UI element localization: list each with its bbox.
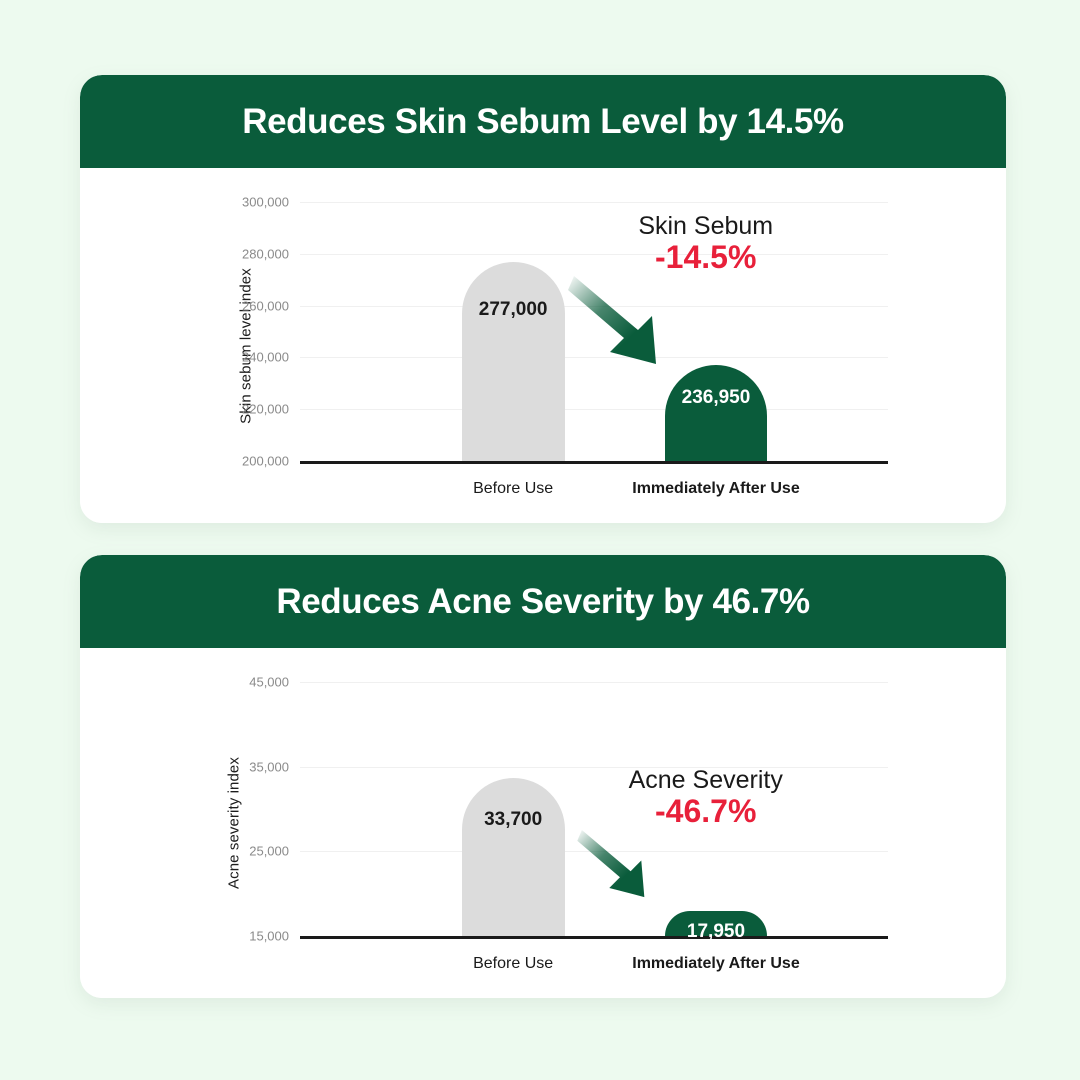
y-tick-label: 25,000 [249, 844, 289, 859]
callout-metric-label: Acne Severity [576, 766, 835, 794]
y-tick-label: 45,000 [249, 675, 289, 690]
down-right-arrow-icon [568, 827, 678, 907]
y-tick-label: 240,000 [242, 350, 289, 365]
chart-card-sebum: Reduces Skin Sebum Level by 14.5% Skin s… [80, 75, 1006, 523]
bar-value-label: 236,950 [682, 387, 751, 409]
y-tick-label: 35,000 [249, 759, 289, 774]
y-tick-label: 260,000 [242, 298, 289, 313]
bar-chart-acne: Acne severity index 45,000 35,000 25,000… [80, 648, 1006, 998]
y-axis-title: Skin sebum level index [237, 268, 254, 424]
gridline: 220,000 [300, 409, 888, 410]
callout-delta-value: -46.7% [576, 794, 835, 830]
axis-baseline: 200,000 [300, 461, 888, 464]
y-tick-label: 15,000 [249, 929, 289, 944]
plot-area-acne: 45,000 35,000 25,000 15,000 33,700 Befor [300, 682, 888, 936]
down-right-arrow-icon [568, 272, 688, 377]
x-axis-label-after: Immediately After Use [632, 955, 799, 973]
reduction-callout: Skin Sebum -14.5% [576, 212, 835, 276]
callout-delta-value: -14.5% [576, 240, 835, 276]
bar-chart-sebum: Skin sebum level index 300,000 280,000 2… [80, 168, 1006, 523]
bar-value-label: 17,950 [687, 921, 745, 943]
y-axis-title: Acne severity index [225, 757, 242, 889]
y-tick-label: 300,000 [242, 195, 289, 210]
card-header-sebum: Reduces Skin Sebum Level by 14.5% [80, 75, 1006, 168]
gridline: 300,000 [300, 202, 888, 203]
x-axis-label-after: Immediately After Use [632, 480, 799, 498]
infographic-page: Reduces Skin Sebum Level by 14.5% Skin s… [0, 0, 1080, 1080]
gridline: 260,000 [300, 306, 888, 307]
bar-before-use[interactable]: 33,700 Before Use [462, 778, 565, 936]
gridline: 240,000 [300, 357, 888, 358]
plot-area-sebum: 300,000 280,000 260,000 240,000 220,000 [300, 202, 888, 461]
reduction-callout: Acne Severity -46.7% [576, 766, 835, 830]
y-tick-label: 280,000 [242, 246, 289, 261]
bar-value-label: 33,700 [484, 809, 542, 831]
chart-card-acne: Reduces Acne Severity by 46.7% Acne seve… [80, 555, 1006, 998]
bar-after-use[interactable]: 236,950 Immediately After Use [665, 365, 768, 461]
card-body-sebum: Skin sebum level index 300,000 280,000 2… [80, 168, 1006, 523]
card-header-title: Reduces Acne Severity by 46.7% [276, 584, 809, 619]
x-axis-label-before: Before Use [473, 955, 553, 973]
gridline: 25,000 [300, 851, 888, 852]
callout-metric-label: Skin Sebum [576, 212, 835, 240]
bar-before-use[interactable]: 277,000 Before Use [462, 262, 565, 461]
bar-after-use[interactable]: 17,950 Immediately After Use [665, 911, 768, 936]
card-body-acne: Acne severity index 45,000 35,000 25,000… [80, 648, 1006, 998]
card-header-acne: Reduces Acne Severity by 46.7% [80, 555, 1006, 648]
bar-value-label: 277,000 [479, 299, 548, 321]
y-tick-label: 200,000 [242, 454, 289, 469]
gridline: 45,000 [300, 682, 888, 683]
y-tick-label: 220,000 [242, 402, 289, 417]
x-axis-label-before: Before Use [473, 480, 553, 498]
card-header-title: Reduces Skin Sebum Level by 14.5% [242, 104, 844, 139]
axis-baseline: 15,000 [300, 936, 888, 939]
